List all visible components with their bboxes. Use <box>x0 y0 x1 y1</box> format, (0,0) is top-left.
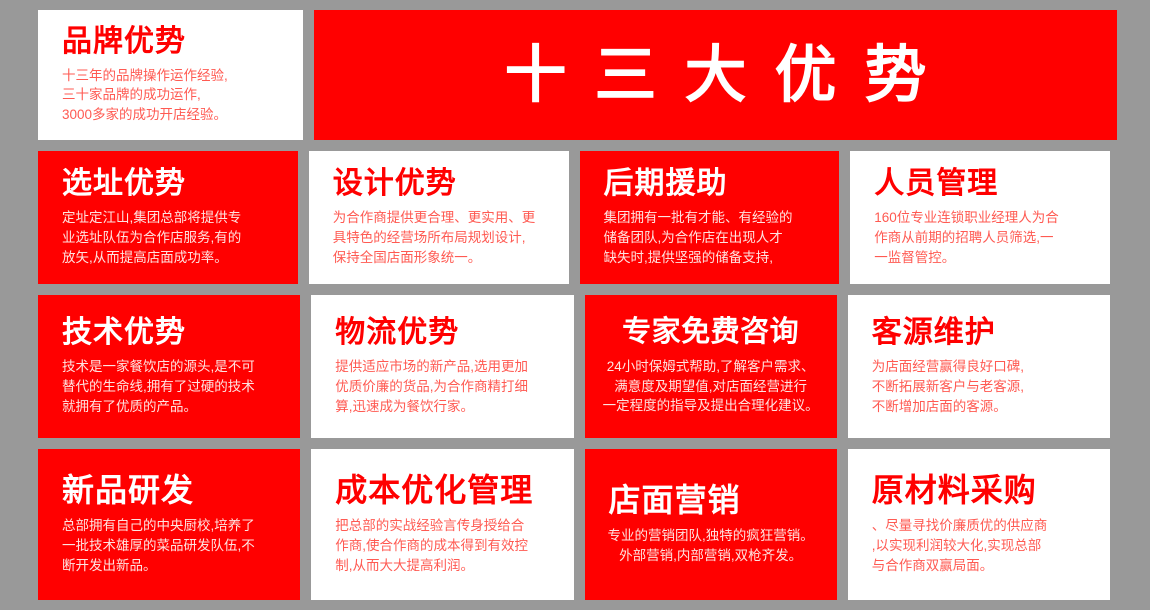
card-body-line: 3000多家的成功开店经验。 <box>62 105 303 125</box>
card-body-line: 一批技术雄厚的菜品研发队伍,不 <box>62 536 286 556</box>
card-body-line: 、尽量寻找价廉质优的供应商 <box>872 516 1096 536</box>
card-body: 集团拥有一批有才能、有经验的 储备团队,为合作店在出现人才 缺失时,提供坚强的储… <box>604 208 826 268</box>
card-body-line: 为店面经营赢得良好口碑, <box>872 357 1096 377</box>
card-body-line: 放矢,从而提高店面成功率。 <box>62 248 284 268</box>
card-title: 客源维护 <box>872 316 1096 349</box>
poster-root: 品牌优势 十三年的品牌操作运作经验, 三十家品牌的成功运作, 3000多家的成功… <box>0 0 1150 610</box>
card-body-line: 24小时保姆式帮助,了解客户需求、 <box>599 357 823 377</box>
card-body-line: 缺失时,提供坚强的储备支持, <box>604 248 826 268</box>
card-body: 、尽量寻找价廉质优的供应商 ,以实现利润较大化,实现总部 与合作商双赢局面。 <box>872 516 1096 576</box>
card-customer-retention[interactable]: 客源维护 为店面经营赢得良好口碑, 不断拓展新客户与老客源, 不断增加店面的客源… <box>848 295 1110 439</box>
card-expert-free-consultation[interactable]: 专家免费咨询 24小时保姆式帮助,了解客户需求、 满意度及期望值,对店面经营进行… <box>585 295 837 439</box>
card-body-line: ,以实现利润较大化,实现总部 <box>872 536 1096 556</box>
card-body-line: 保持全国店面形象统一。 <box>333 248 555 268</box>
card-body: 24小时保姆式帮助,了解客户需求、 满意度及期望值,对店面经营进行 一定程度的指… <box>599 357 823 417</box>
card-body-line: 业选址队伍为合作店服务,有的 <box>62 228 284 248</box>
card-cost-optimization-management[interactable]: 成本优化管理 把总部的实战经验言传身授给合 作商,使合作商的成本得到有效控 制,… <box>311 449 573 600</box>
advantages-grid: 品牌优势 十三年的品牌操作运作经验, 三十家品牌的成功运作, 3000多家的成功… <box>38 10 1110 600</box>
card-body-line: 集团拥有一批有才能、有经验的 <box>604 208 826 228</box>
card-body-line: 算,迅速成为餐饮行家。 <box>335 397 559 417</box>
card-body: 总部拥有自己的中央厨校,培养了 一批技术雄厚的菜品研发队伍,不 断开发出新品。 <box>62 516 286 576</box>
card-logistics-advantage[interactable]: 物流优势 提供适应市场的新产品,选用更加 优质价廉的货品,为合作商精打细 算,迅… <box>311 295 573 439</box>
card-post-support[interactable]: 后期援助 集团拥有一批有才能、有经验的 储备团队,为合作店在出现人才 缺失时,提… <box>580 151 840 284</box>
card-body-line: 满意度及期望值,对店面经营进行 <box>599 377 823 397</box>
card-title: 设计优势 <box>333 167 555 200</box>
grid-row-4: 新品研发 总部拥有自己的中央厨校,培养了 一批技术雄厚的菜品研发队伍,不 断开发… <box>38 449 1110 600</box>
card-body-line: 160位专业连锁职业经理人为合 <box>874 208 1096 228</box>
card-body: 专业的营销团队,独特的疯狂营销。 外部营销,内部营销,双枪齐发。 <box>599 526 823 566</box>
card-new-product-rd[interactable]: 新品研发 总部拥有自己的中央厨校,培养了 一批技术雄厚的菜品研发队伍,不 断开发… <box>38 449 300 600</box>
card-body-line: 一监督管控。 <box>874 248 1096 268</box>
card-body-line: 一定程度的指导及提出合理化建议。 <box>599 396 823 416</box>
card-personnel-management[interactable]: 人员管理 160位专业连锁职业经理人为合 作商从前期的招聘人员筛选,一 一监督管… <box>850 151 1110 284</box>
card-body: 技术是一家餐饮店的源头,是不可 替代的生命线,拥有了过硬的技术 就拥有了优质的产… <box>62 357 286 417</box>
card-body-line: 为合作商提供更合理、更实用、更 <box>333 208 555 228</box>
card-body: 为店面经营赢得良好口碑, 不断拓展新客户与老客源, 不断增加店面的客源。 <box>872 357 1096 417</box>
card-title: 技术优势 <box>62 316 286 349</box>
card-body-line: 作商,使合作商的成本得到有效控 <box>335 536 559 556</box>
card-body: 提供适应市场的新产品,选用更加 优质价廉的货品,为合作商精打细 算,迅速成为餐饮… <box>335 357 559 417</box>
card-body: 把总部的实战经验言传身授给合 作商,使合作商的成本得到有效控 制,从而大大提高利… <box>335 516 559 576</box>
card-title: 店面营销 <box>599 483 823 518</box>
card-body-line: 与合作商双赢局面。 <box>872 556 1096 576</box>
card-body: 160位专业连锁职业经理人为合 作商从前期的招聘人员筛选,一 一监督管控。 <box>874 208 1096 268</box>
card-body-line: 外部营销,内部营销,双枪齐发。 <box>599 546 823 566</box>
grid-row-2: 选址优势 定址定江山,集团总部将提供专 业选址队伍为合作店服务,有的 放矢,从而… <box>38 151 1110 284</box>
banner-title: 十三大优势 <box>476 44 954 106</box>
card-body: 为合作商提供更合理、更实用、更 具特色的经营场所布局规划设计, 保持全国店面形象… <box>333 208 555 268</box>
card-title: 人员管理 <box>874 167 1096 200</box>
card-body-line: 把总部的实战经验言传身授给合 <box>335 516 559 536</box>
card-title: 新品研发 <box>62 473 286 508</box>
card-title: 选址优势 <box>62 167 284 200</box>
card-body-line: 就拥有了优质的产品。 <box>62 397 286 417</box>
card-body: 十三年的品牌操作运作经验, 三十家品牌的成功运作, 3000多家的成功开店经验。 <box>62 66 303 125</box>
card-title: 后期援助 <box>604 167 826 200</box>
card-body-line: 替代的生命线,拥有了过硬的技术 <box>62 377 286 397</box>
card-body-line: 技术是一家餐饮店的源头,是不可 <box>62 357 286 377</box>
card-body-line: 不断增加店面的客源。 <box>872 397 1096 417</box>
grid-row-1: 品牌优势 十三年的品牌操作运作经验, 三十家品牌的成功运作, 3000多家的成功… <box>38 10 1110 140</box>
card-body-line: 提供适应市场的新产品,选用更加 <box>335 357 559 377</box>
card-body-line: 不断拓展新客户与老客源, <box>872 377 1096 397</box>
card-body-line: 作商从前期的招聘人员筛选,一 <box>874 228 1096 248</box>
card-body: 定址定江山,集团总部将提供专 业选址队伍为合作店服务,有的 放矢,从而提高店面成… <box>62 208 284 268</box>
card-title: 物流优势 <box>335 316 559 349</box>
card-store-marketing[interactable]: 店面营销 专业的营销团队,独特的疯狂营销。 外部营销,内部营销,双枪齐发。 <box>585 449 837 600</box>
card-body-line: 断开发出新品。 <box>62 556 286 576</box>
card-body-line: 优质价廉的货品,为合作商精打细 <box>335 377 559 397</box>
card-body-line: 三十家品牌的成功运作, <box>62 85 303 105</box>
card-raw-material-procurement[interactable]: 原材料采购 、尽量寻找价廉质优的供应商 ,以实现利润较大化,实现总部 与合作商双… <box>848 449 1110 600</box>
card-body-line: 总部拥有自己的中央厨校,培养了 <box>62 516 286 536</box>
banner-thirteen-advantages: 十三大优势 <box>314 10 1117 140</box>
card-body-line: 专业的营销团队,独特的疯狂营销。 <box>599 526 823 546</box>
card-design-advantage[interactable]: 设计优势 为合作商提供更合理、更实用、更 具特色的经营场所布局规划设计, 保持全… <box>309 151 569 284</box>
card-title: 专家免费咨询 <box>599 317 823 349</box>
card-body-line: 储备团队,为合作店在出现人才 <box>604 228 826 248</box>
card-site-selection-advantage[interactable]: 选址优势 定址定江山,集团总部将提供专 业选址队伍为合作店服务,有的 放矢,从而… <box>38 151 298 284</box>
card-technology-advantage[interactable]: 技术优势 技术是一家餐饮店的源头,是不可 替代的生命线,拥有了过硬的技术 就拥有… <box>38 295 300 439</box>
card-body-line: 制,从而大大提高利润。 <box>335 556 559 576</box>
grid-row-3: 技术优势 技术是一家餐饮店的源头,是不可 替代的生命线,拥有了过硬的技术 就拥有… <box>38 295 1110 439</box>
card-body-line: 十三年的品牌操作运作经验, <box>62 66 303 86</box>
card-title: 成本优化管理 <box>335 473 559 508</box>
card-title: 品牌优势 <box>62 25 303 59</box>
card-body-line: 具特色的经营场所布局规划设计, <box>333 228 555 248</box>
card-title: 原材料采购 <box>872 473 1096 508</box>
card-body-line: 定址定江山,集团总部将提供专 <box>62 208 284 228</box>
card-brand-advantage[interactable]: 品牌优势 十三年的品牌操作运作经验, 三十家品牌的成功运作, 3000多家的成功… <box>38 10 303 140</box>
